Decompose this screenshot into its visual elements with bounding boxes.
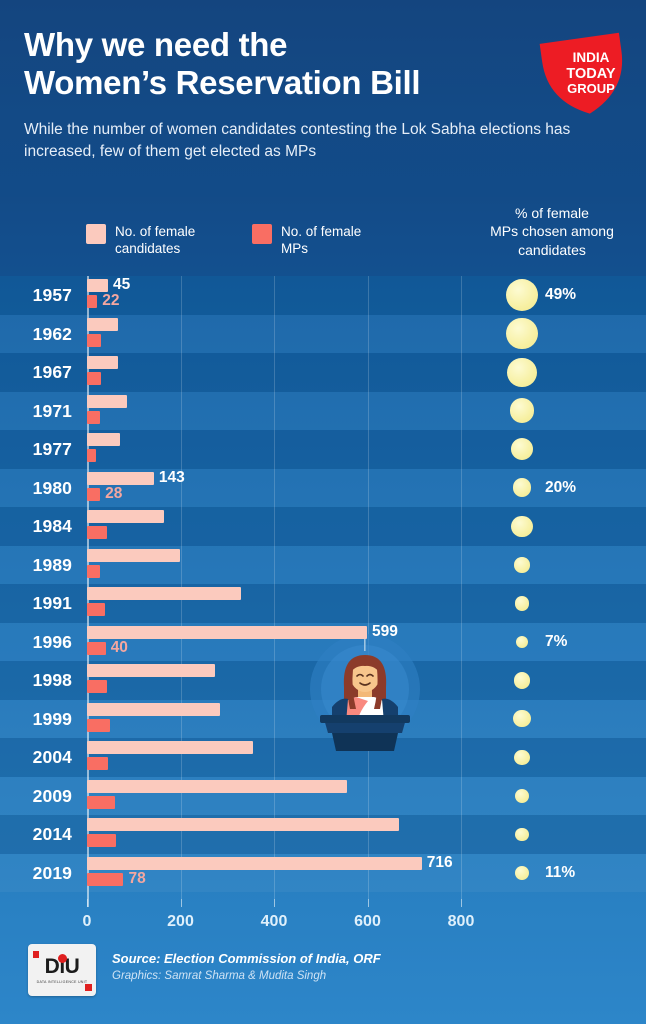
percent-bubble xyxy=(506,279,538,311)
india-today-group-logo: INDIA TODAY GROUP xyxy=(536,22,632,118)
header-banner: Why we need the Women’s Reservation Bill… xyxy=(0,0,646,197)
year-label: 1980 xyxy=(0,478,72,499)
logo-line-1: INDIA xyxy=(573,50,610,65)
diu-logo-subtitle: DATA INTELLIGENCE UNIT xyxy=(37,980,88,984)
year-label: 2019 xyxy=(0,863,72,884)
chart-row: 1999 xyxy=(0,700,646,739)
percent-bubble xyxy=(514,672,531,689)
credit-text: Graphics: Samrat Sharma & Mudita Singh xyxy=(112,969,326,985)
bar-candidates xyxy=(87,780,347,793)
chart-row: 2009 xyxy=(0,777,646,816)
percent-bubble xyxy=(511,438,533,460)
bar-mps xyxy=(87,565,100,578)
bar-mps xyxy=(87,449,96,462)
year-label: 2009 xyxy=(0,786,72,807)
chart-row: 1984 xyxy=(0,507,646,546)
axis-tick-label: 200 xyxy=(167,913,194,931)
bar-chart: 1957452249%196219671971197719801432820%1… xyxy=(0,276,646,930)
bar-mps xyxy=(87,295,97,308)
percent-bubble xyxy=(510,398,535,423)
percent-bubble xyxy=(515,828,528,841)
bar-mps xyxy=(87,372,101,385)
legend-swatch-mps xyxy=(252,224,272,244)
bar-candidates xyxy=(87,587,241,600)
chart-row: 1957452249% xyxy=(0,276,646,315)
bar-candidates xyxy=(87,356,118,369)
percent-bubble xyxy=(514,557,530,573)
shield-icon: INDIA TODAY GROUP xyxy=(536,22,632,118)
year-label: 1991 xyxy=(0,593,72,614)
bar-mps xyxy=(87,526,107,539)
bar-value-mps: 28 xyxy=(105,485,122,503)
chart-row: 1971 xyxy=(0,392,646,431)
legend-item-mps: No. of female MPs xyxy=(252,223,361,257)
year-label: 1996 xyxy=(0,632,72,653)
chart-row: 1996599407% xyxy=(0,623,646,662)
year-label: 2004 xyxy=(0,747,72,768)
axis-tick-mark xyxy=(274,899,275,907)
bar-mps xyxy=(87,834,116,847)
axis-tick-label: 400 xyxy=(261,913,288,931)
percent-bubble xyxy=(515,789,529,803)
year-label: 1971 xyxy=(0,401,72,422)
chart-legend: No. of female candidates No. of female M… xyxy=(0,197,646,276)
chart-row: 1989 xyxy=(0,546,646,585)
bar-value-candidates: 716 xyxy=(427,854,453,872)
year-label: 1989 xyxy=(0,555,72,576)
bar-mps xyxy=(87,796,115,809)
bar-mps xyxy=(87,757,108,770)
chart-row: 1977 xyxy=(0,430,646,469)
bar-candidates xyxy=(87,279,108,292)
percent-bubble xyxy=(514,750,529,765)
year-label: 1967 xyxy=(0,362,72,383)
diu-logo-text: DiU xyxy=(45,956,80,977)
bar-candidates xyxy=(87,626,367,639)
axis-tick-label: 800 xyxy=(448,913,475,931)
year-label: 1977 xyxy=(0,439,72,460)
percent-column-header: % of female MPs chosen among candidates xyxy=(466,204,638,259)
percent-bubble xyxy=(513,478,532,497)
axis-tick-label: 0 xyxy=(83,913,92,931)
percent-bubble xyxy=(515,596,530,611)
logo-line-2: TODAY xyxy=(566,66,615,82)
logo-line-3: GROUP xyxy=(567,81,615,96)
footer: DiU DATA INTELLIGENCE UNIT Source: Elect… xyxy=(0,930,646,1024)
axis-tick-mark xyxy=(368,899,369,907)
legend-swatch-candidates xyxy=(86,224,106,244)
bar-mps xyxy=(87,719,110,732)
chart-row: 1962 xyxy=(0,315,646,354)
percent-bubble xyxy=(511,516,532,537)
bar-mps xyxy=(87,411,100,424)
bar-mps xyxy=(87,642,106,655)
axis-tick-mark xyxy=(87,899,88,907)
title-line-2: Women’s Reservation Bill xyxy=(24,64,494,102)
diu-logo: DiU DATA INTELLIGENCE UNIT xyxy=(28,944,96,996)
year-label: 1999 xyxy=(0,709,72,730)
bar-candidates xyxy=(87,395,127,408)
bar-mps xyxy=(87,488,100,501)
title-line-1: Why we need the xyxy=(24,26,494,64)
percent-bubble xyxy=(516,636,528,648)
bar-mps xyxy=(87,603,105,616)
bar-candidates xyxy=(87,433,120,446)
bar-mps xyxy=(87,873,123,886)
bar-value-candidates: 143 xyxy=(159,469,185,487)
bar-candidates xyxy=(87,510,164,523)
bar-value-mps: 40 xyxy=(111,639,128,657)
percent-bubble-label: 20% xyxy=(545,479,576,497)
diu-accent-left-icon xyxy=(33,951,39,958)
diu-dot-icon xyxy=(58,954,67,963)
diu-accent-right-icon xyxy=(85,984,92,991)
year-label: 1998 xyxy=(0,670,72,691)
bar-candidates xyxy=(87,703,220,716)
year-label: 1957 xyxy=(0,285,72,306)
bar-candidates xyxy=(87,818,399,831)
year-label: 1984 xyxy=(0,516,72,537)
bar-mps xyxy=(87,680,107,693)
year-label: 1962 xyxy=(0,324,72,345)
axis-tick-mark xyxy=(181,899,182,907)
year-label: 2014 xyxy=(0,824,72,845)
chart-row: 1998 xyxy=(0,661,646,700)
chart-row: 19801432820% xyxy=(0,469,646,508)
page-title: Why we need the Women’s Reservation Bill xyxy=(24,26,494,103)
chart-row: 2014 xyxy=(0,815,646,854)
legend-label-candidates: No. of female candidates xyxy=(115,223,195,257)
page-subtitle: While the number of women candidates con… xyxy=(24,119,622,163)
chart-row: 20197167811% xyxy=(0,854,646,893)
bar-candidates xyxy=(87,741,253,754)
legend-item-candidates: No. of female candidates xyxy=(86,223,195,257)
axis-tick-label: 600 xyxy=(354,913,381,931)
source-text: Source: Election Commission of India, OR… xyxy=(112,950,381,968)
chart-row: 1967 xyxy=(0,353,646,392)
chart-row: 2004 xyxy=(0,738,646,777)
axis-tick-mark xyxy=(461,899,462,907)
bar-candidates xyxy=(87,318,118,331)
percent-bubble-label: 11% xyxy=(545,864,575,882)
bar-value-candidates: 599 xyxy=(372,623,398,641)
percent-bubble xyxy=(506,318,537,349)
percent-bubble xyxy=(507,358,536,387)
percent-bubble xyxy=(513,710,530,727)
bar-candidates xyxy=(87,549,180,562)
legend-label-mps: No. of female MPs xyxy=(281,223,361,257)
bar-value-mps: 78 xyxy=(128,870,145,888)
bar-value-mps: 22 xyxy=(102,292,119,310)
chart-row: 1991 xyxy=(0,584,646,623)
percent-bubble xyxy=(515,866,529,880)
percent-bubble-label: 7% xyxy=(545,633,567,651)
bar-candidates xyxy=(87,472,154,485)
percent-bubble-label: 49% xyxy=(545,286,576,304)
bar-candidates xyxy=(87,857,422,870)
bar-mps xyxy=(87,334,101,347)
bar-candidates xyxy=(87,664,215,677)
